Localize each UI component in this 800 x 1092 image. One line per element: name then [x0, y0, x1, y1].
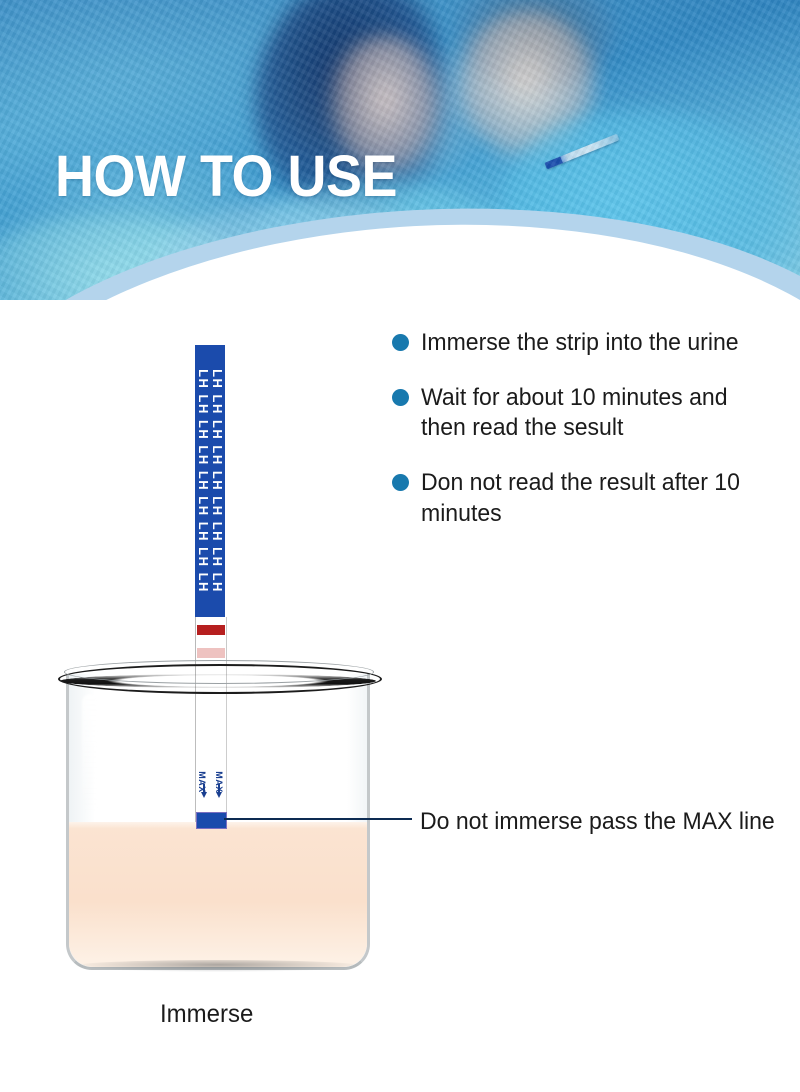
test-strip-graphic: LH LH LH LH LH LH LH LH LH LH LH LH LH L… [195, 345, 225, 617]
beaker-caption: Immerse [160, 1000, 253, 1029]
instruction-text: Immerse the strip into the urine [421, 328, 739, 359]
list-item: Don not read the result after 10 minutes [392, 468, 792, 529]
test-strip-body: LH LH LH LH LH LH LH LH LH LH LH LH LH L… [195, 345, 225, 617]
instruction-text: Don not read the result after 10 minutes [421, 468, 777, 529]
down-arrow-icon-left [201, 792, 207, 798]
control-line-indicator [197, 625, 225, 635]
man-face-blob [460, 10, 595, 160]
max-line-annotation-text: Do not immerse pass the MAX line [420, 806, 775, 837]
bullet-dot-icon [392, 474, 409, 491]
instruction-text: Wait for about 10 minutes and then read … [421, 383, 777, 444]
max-line-labels: MAX MAX [196, 766, 225, 812]
test-strip-label-block: LH LH LH LH LH LH LH LH LH LH LH LH LH L… [195, 345, 225, 617]
max-line-marker [196, 812, 227, 829]
test-line-indicator [197, 648, 225, 658]
beaker-base-shadow [74, 960, 362, 972]
beaker-glass-highlight [82, 694, 98, 814]
held-test-strip-icon [545, 134, 620, 170]
beaker-urine-liquid [69, 822, 367, 967]
max-label-left: MAX [197, 771, 207, 793]
test-strip-label-line: LH LH LH LH LH LH LH LH LH [196, 345, 210, 617]
beaker-rim-inner-ellipse [64, 660, 374, 684]
held-test-strip-cap [545, 156, 563, 169]
instruction-list: Immerse the strip into the urine Wait fo… [392, 328, 792, 554]
down-arrow-icon-right [216, 792, 222, 798]
annotation-leader-line [224, 818, 412, 820]
bullet-dot-icon [392, 334, 409, 351]
list-item: Immerse the strip into the urine [392, 328, 792, 359]
bullet-dot-icon [392, 389, 409, 406]
man-hair-blob [455, 0, 615, 90]
page-title: HOW TO USE [55, 148, 397, 206]
list-item: Wait for about 10 minutes and then read … [392, 383, 792, 444]
test-strip-label-line: LH LH LH LH LH LH LH LH LH [210, 345, 224, 617]
